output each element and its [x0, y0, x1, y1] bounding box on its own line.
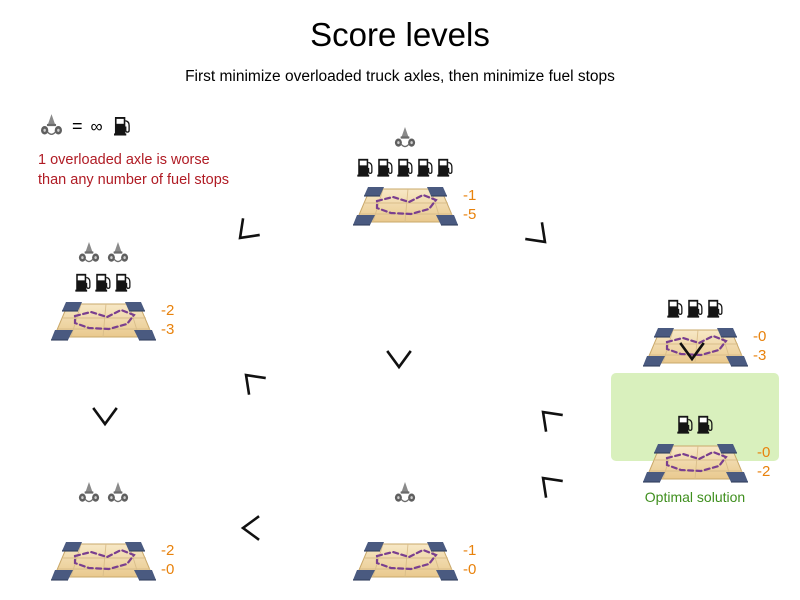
- fuel-pump-icon: [397, 157, 414, 182]
- axle-icon-row: [325, 481, 485, 511]
- score-pair: -1-0: [463, 541, 476, 579]
- node-content: -2-3: [23, 241, 183, 343]
- fuel-pump-icon-row: [23, 271, 183, 297]
- soft-score: -3: [753, 346, 766, 365]
- comparator-less-than-icon: [675, 335, 709, 369]
- fuel-pump-icon: [75, 272, 92, 297]
- fuel-pump-icon-row: [611, 413, 779, 439]
- overloaded-axle-icon: [105, 240, 131, 271]
- comparator-less-than-icon: [531, 400, 565, 434]
- hard-score: -2: [161, 541, 174, 560]
- comparator-less-than-icon: [531, 466, 565, 500]
- score-pair: -2-0: [161, 541, 174, 579]
- node-content: -1-5: [325, 126, 485, 228]
- solution-2-axle-3-fuel: -2-3: [23, 241, 183, 343]
- hard-score: -1: [463, 541, 476, 560]
- axle-icon-row: [23, 241, 183, 271]
- fuel-pump-icon-row: [23, 511, 183, 537]
- fuel-pump-icon-row: [325, 156, 485, 182]
- equals-sign: =: [72, 117, 83, 139]
- axle-icon-row: [23, 481, 183, 511]
- optimal-solution-label: Optimal solution: [611, 489, 779, 505]
- route-map: -2-3: [23, 299, 183, 343]
- axle-icon-row: [325, 126, 485, 156]
- overloaded-axle-icon: [76, 240, 102, 271]
- score-pair: -0-3: [753, 327, 766, 365]
- comparator-less-than-icon: [233, 511, 267, 545]
- fuel-pump-icon: [437, 157, 454, 182]
- overloaded-axle-icon: [38, 112, 65, 144]
- infinity-symbol: ∞: [90, 118, 107, 139]
- comparator-less-than-icon: [88, 400, 122, 434]
- diagram-canvas: Score levels First minimize overloaded t…: [0, 0, 800, 600]
- score-pair: -2-3: [161, 301, 174, 339]
- page-subtitle: First minimize overloaded truck axles, t…: [0, 66, 800, 87]
- fuel-pump-icon: [677, 414, 694, 439]
- fuel-pump-icon: [377, 157, 394, 182]
- score-pair: -1-5: [463, 186, 476, 224]
- overloaded-axle-icon: [105, 480, 131, 511]
- soft-score: -0: [463, 560, 476, 579]
- route-map: -0-2: [611, 441, 779, 485]
- fuel-pump-icon-row: [325, 511, 485, 537]
- fuel-pump-icon: [115, 272, 132, 297]
- comparator-less-than-icon: [382, 343, 416, 377]
- fuel-pump-icon: [114, 115, 131, 141]
- fuel-pump-icon: [95, 272, 112, 297]
- fuel-pump-icon: [707, 298, 724, 323]
- page-title: Score levels: [0, 16, 800, 54]
- soft-score: -5: [463, 205, 476, 224]
- soft-score: -3: [161, 320, 174, 339]
- node-content: -0-2Optimal solution: [611, 373, 779, 505]
- legend-equation: = ∞: [38, 114, 318, 142]
- route-map: -2-0: [23, 539, 183, 583]
- route-map: -1-5: [325, 184, 485, 228]
- route-map: -1-0: [325, 539, 485, 583]
- comparator-less-than-icon: [523, 220, 557, 254]
- hard-score: -0: [753, 327, 766, 346]
- score-pair: -0-2: [757, 443, 770, 481]
- solution-1-axle-5-fuel: -1-5: [325, 126, 485, 228]
- legend: = ∞ 1 overloaded axle is worse than any …: [38, 114, 318, 190]
- node-content: -2-0: [23, 481, 183, 583]
- fuel-pump-icon: [697, 414, 714, 439]
- solution-2-axle-0-fuel: -2-0: [23, 481, 183, 583]
- overloaded-axle-icon: [392, 125, 418, 156]
- fuel-pump-icon-row: [615, 297, 775, 323]
- axle-icon-row: [611, 383, 779, 413]
- hard-score: -1: [463, 186, 476, 205]
- fuel-pump-icon: [687, 298, 704, 323]
- solution-1-axle-0-fuel: -1-0: [325, 481, 485, 583]
- overloaded-axle-icon: [392, 480, 418, 511]
- overloaded-axle-icon: [76, 480, 102, 511]
- node-content: -1-0: [325, 481, 485, 583]
- comparator-less-than-icon: [234, 363, 268, 397]
- soft-score: -2: [757, 462, 770, 481]
- soft-score: -0: [161, 560, 174, 579]
- fuel-pump-icon: [667, 298, 684, 323]
- fuel-pump-icon: [357, 157, 374, 182]
- hard-score: -0: [757, 443, 770, 462]
- comparator-less-than-icon: [228, 216, 262, 250]
- axle-icon-row: [615, 267, 775, 297]
- hard-score: -2: [161, 301, 174, 320]
- solution-0-axle-2-fuel: -0-2Optimal solution: [611, 373, 779, 505]
- fuel-pump-icon: [417, 157, 434, 182]
- legend-note: 1 overloaded axle is worse than any numb…: [38, 150, 318, 190]
